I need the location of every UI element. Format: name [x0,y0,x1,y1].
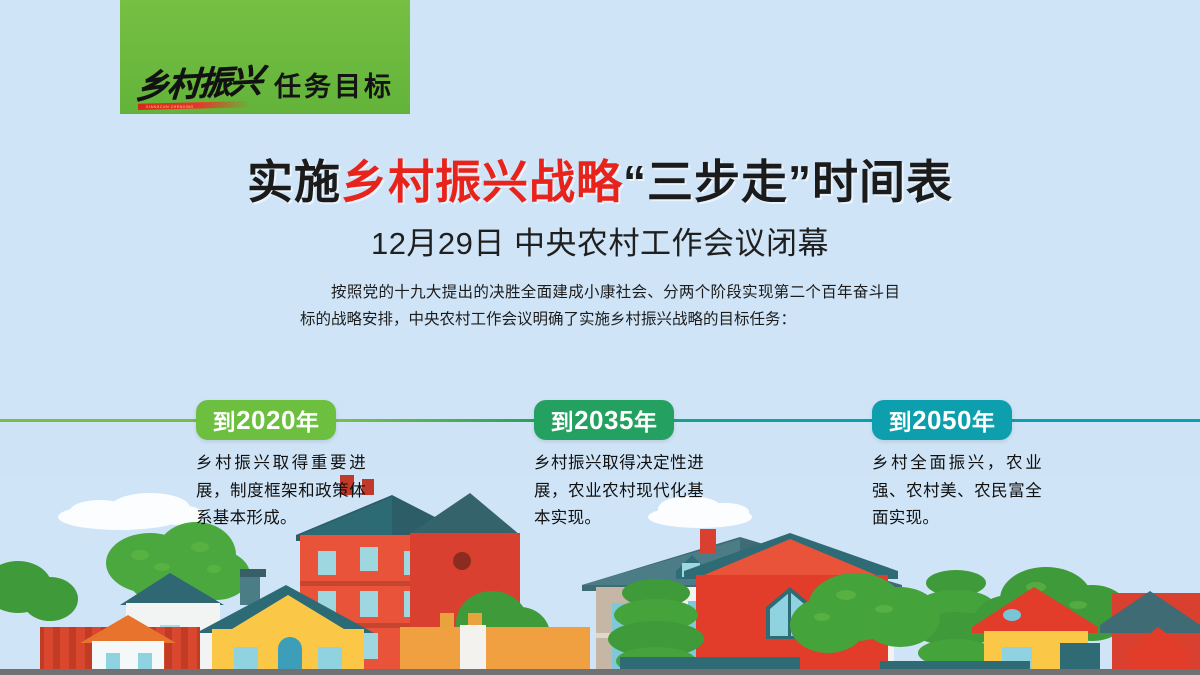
page-subtitle: 12月29日 中央农村工作会议闭幕 [0,218,1200,263]
badge-prefix: 到 [551,403,575,437]
ground-strip [0,669,1200,675]
badge-suffix: 年 [296,403,320,437]
timeline-text-2020: 乡村振兴取得重要进展，制度框架和政策体系基本形成。 [196,450,366,533]
infographic-canvas: 乡村振兴 XIANGCUN ZHENXING 任务目标 实施乡村振兴战略“三步走… [0,0,1200,675]
timeline-segment-left [0,419,208,422]
logo-calligraphy-wrap: 乡村振兴 XIANGCUN ZHENXING [136,69,260,102]
badge-prefix: 到 [889,403,913,437]
timeline-segment-right [1000,419,1200,422]
badge-year: 2035 [574,405,634,436]
timeline-badge-2050[interactable]: 到2050年 [872,400,1012,440]
intro-paragraph: 按照党的十九大提出的决胜全面建成小康社会、分两个阶段实现第二个百年奋斗目标的战略… [300,280,900,333]
badge-prefix: 到 [213,403,237,437]
timeline-text-2035: 乡村振兴取得决定性进展，农业农村现代化基本实现。 [534,450,704,533]
title-highlight: 乡村振兴战略 [341,156,623,208]
logo-banner: 乡村振兴 XIANGCUN ZHENXING 任务目标 [120,0,410,114]
logo-calligraphy: 乡村振兴 [135,66,262,105]
badge-year: 2020 [236,405,296,436]
badge-suffix: 年 [634,403,658,437]
title-prefix: 实施 [247,156,341,208]
page-title: 实施乡村振兴战略“三步走”时间表 [0,146,1200,212]
logo-subtitle: 任务目标 [274,74,394,102]
timeline-badge-2035[interactable]: 到2035年 [534,400,674,440]
timeline-text-2050: 乡村全面振兴，农业强、农村美、农民富全面实现。 [872,450,1042,533]
badge-year: 2050 [912,405,972,436]
timeline-segment-1-2 [330,419,540,422]
title-suffix: “三步走”时间表 [623,156,953,208]
badge-suffix: 年 [972,403,996,437]
timeline-segment-2-3 [668,419,880,422]
timeline-badge-2020[interactable]: 到2020年 [196,400,336,440]
logo-swoosh-pinyin: XIANGCUN ZHENXING [146,105,194,109]
